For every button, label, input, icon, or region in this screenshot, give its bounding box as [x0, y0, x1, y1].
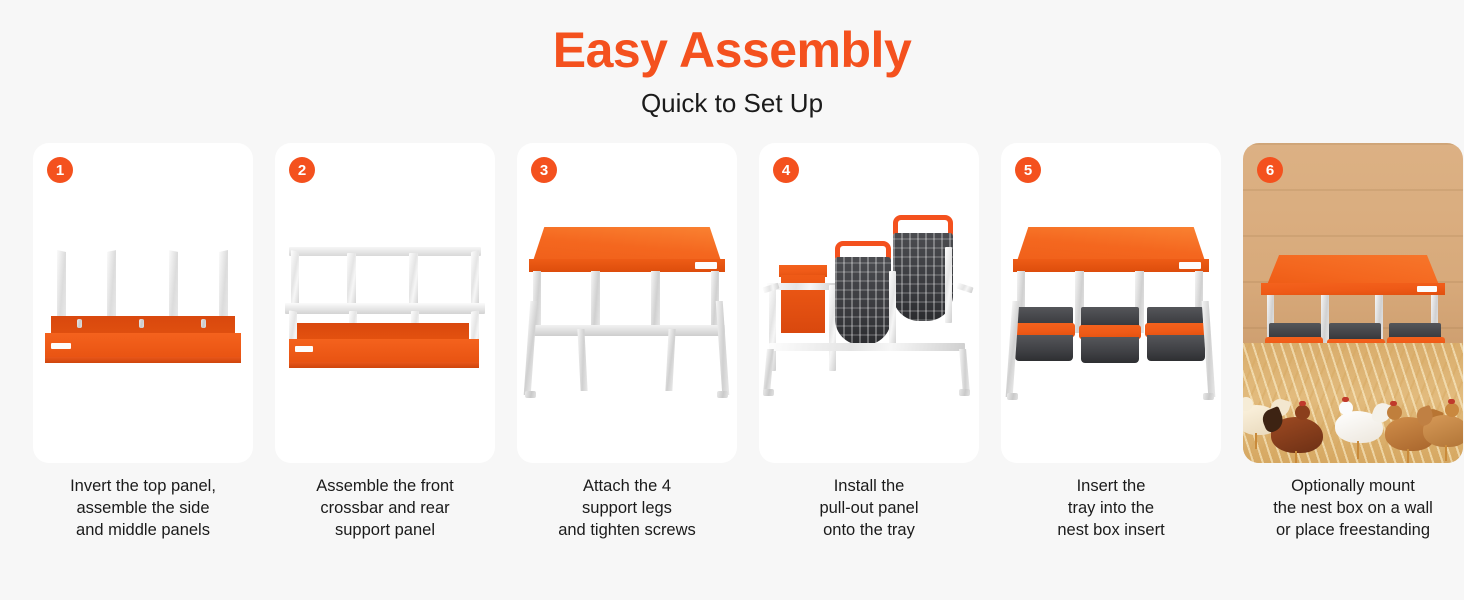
infographic-page: Easy Assembly Quick to Set Up 1: [0, 0, 1464, 600]
step-6: 6: [1243, 143, 1463, 542]
page-title: Easy Assembly: [0, 0, 1464, 80]
step-6-card: 6: [1243, 143, 1463, 463]
step-2-card: 2: [275, 143, 495, 463]
step-1-illustration: [33, 143, 253, 463]
step-6-illustration: [1243, 143, 1463, 463]
step-3-caption: Attach the 4 support legs and tighten sc…: [517, 476, 737, 542]
step-3: 3 Attach the 4: [517, 143, 737, 542]
step-1-card: 1: [33, 143, 253, 463]
step-3-illustration: [517, 143, 737, 463]
step-4-caption: Install the pull-out panel onto the tray: [759, 476, 979, 542]
page-subtitle: Quick to Set Up: [0, 88, 1464, 119]
step-5-badge: 5: [1015, 157, 1041, 183]
step-2-illustration: [275, 143, 495, 463]
step-5-illustration: [1001, 143, 1221, 463]
step-3-card: 3: [517, 143, 737, 463]
step-6-caption: Optionally mount the nest box on a wall …: [1243, 476, 1463, 542]
step-5-card: 5: [1001, 143, 1221, 463]
step-3-badge: 3: [531, 157, 557, 183]
step-4-badge: 4: [773, 157, 799, 183]
step-5-caption: Insert the tray into the nest box insert: [1001, 476, 1221, 542]
step-1-badge: 1: [47, 157, 73, 183]
step-1: 1 Invert the top panel, assemble the sid…: [33, 143, 253, 542]
step-4-illustration: [759, 143, 979, 463]
step-2-badge: 2: [289, 157, 315, 183]
step-5: 5: [1001, 143, 1221, 542]
step-4: 4: [759, 143, 979, 542]
step-2-caption: Assemble the front crossbar and rear sup…: [275, 476, 495, 542]
step-1-caption: Invert the top panel, assemble the side …: [33, 476, 253, 542]
step-6-badge: 6: [1257, 157, 1283, 183]
step-2: 2 Assemble the: [275, 143, 495, 542]
step-4-card: 4: [759, 143, 979, 463]
steps-row: 1 Invert the top panel, assemble the sid…: [33, 143, 1431, 542]
